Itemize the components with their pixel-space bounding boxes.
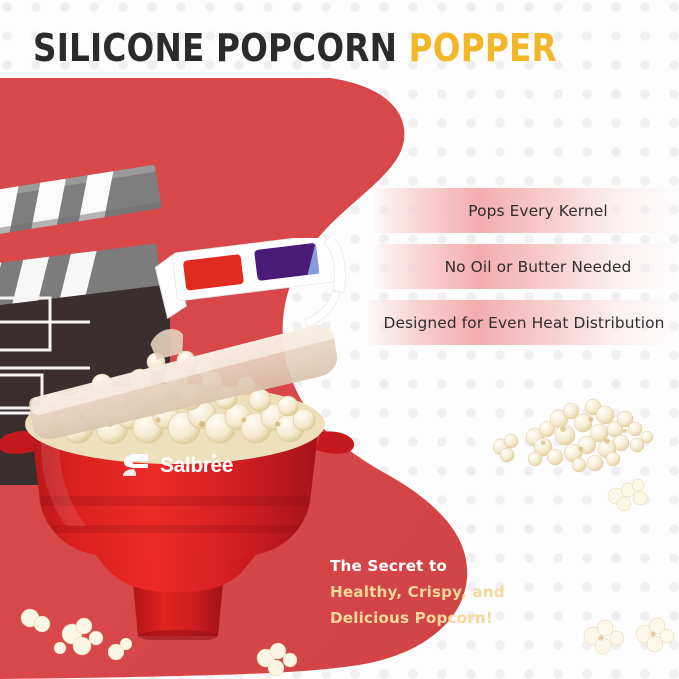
title-primary: SILICONE POPCORN [33,26,397,70]
popcorn-cluster-bottom-right [575,612,679,679]
tagline-line-2: Healthy, Crispy, and [330,579,505,605]
3d-glasses-icon [150,238,360,343]
popcorn-cluster-mid-right [600,470,670,525]
feature-label: Designed for Even Heat Distribution [384,314,665,332]
product-marketing-image: SILICONE POPCORN POPPER [0,0,679,679]
feature-item-2: No Oil or Butter Needed [397,244,679,289]
feature-item-1: Pops Every Kernel [397,188,679,233]
popcorn-cluster-bottom-left [12,608,132,677]
title-accent: POPPER [409,26,557,70]
tagline-block: The Secret to Healthy, Crispy, and Delic… [330,553,505,631]
svg-text:Salbree: Salbree [160,454,233,477]
feature-list: Pops Every Kernel No Oil or Butter Neede… [397,188,679,356]
page-title: SILICONE POPCORN POPPER [33,28,557,68]
feature-item-3: Designed for Even Heat Distribution [369,300,679,345]
tagline-line-3: Delicious Popcorn! [330,605,505,631]
feature-label: No Oil or Butter Needed [445,258,632,276]
tagline-line-1: The Secret to [330,553,505,579]
feature-label: Pops Every Kernel [468,202,608,220]
popcorn-cluster-bottom-mid [248,638,308,679]
